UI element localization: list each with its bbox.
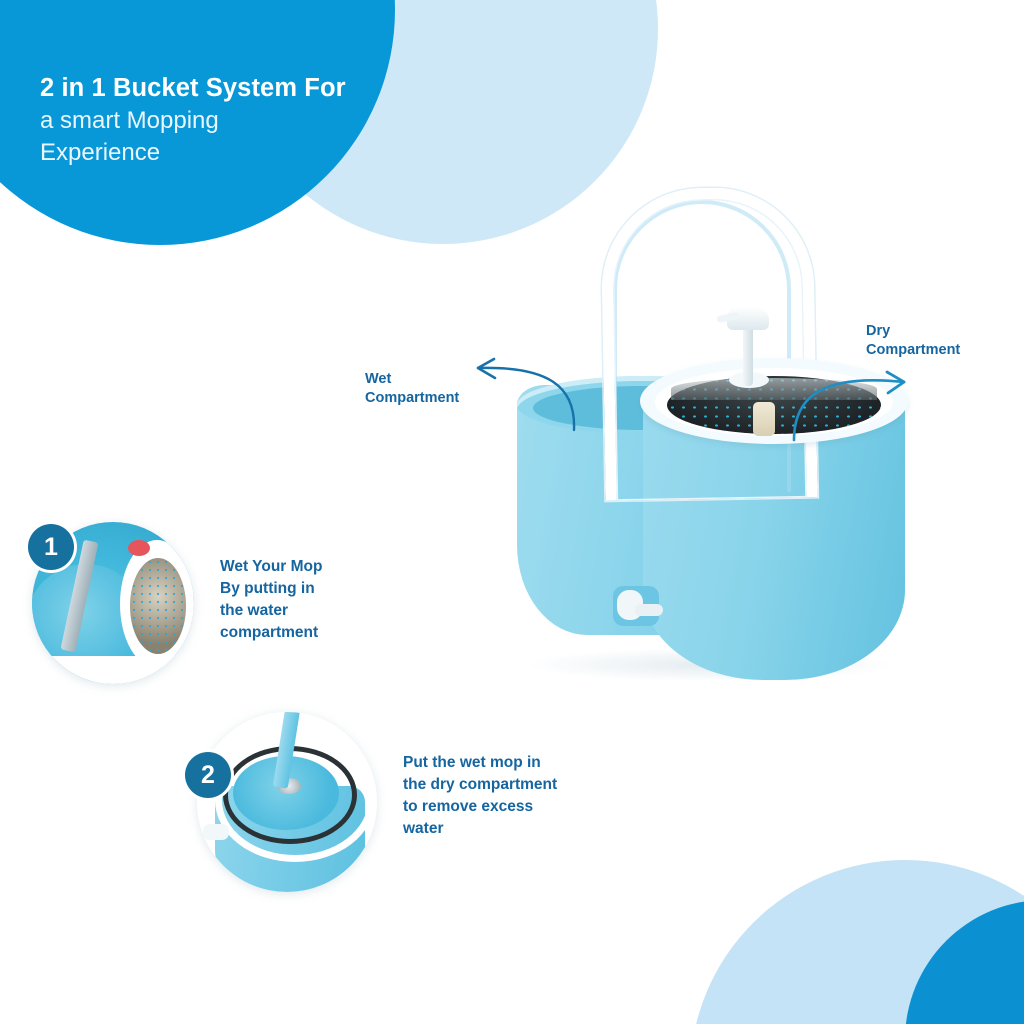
step-1-text: Wet Your Mop By putting in the water com…	[220, 556, 395, 644]
step-2-line-1: Put the wet mop in	[403, 752, 633, 774]
basket-steel-sheen	[671, 378, 877, 400]
drain-valve-lever	[635, 604, 663, 616]
callout-wet-compartment: Wet Compartment	[365, 370, 459, 409]
poster-headline: 2 in 1 Bucket System For a smart Mopping…	[40, 72, 460, 169]
callout-dry-line-2: Compartment	[866, 341, 960, 360]
step-1-base-strip	[32, 656, 194, 684]
step-2-text: Put the wet mop in the dry compartment t…	[403, 752, 633, 840]
step-1-basket-perforations	[130, 558, 186, 654]
callout-wet-line-1: Wet	[365, 370, 459, 389]
headline-line-2: a smart Mopping	[40, 105, 460, 137]
carry-handle	[600, 186, 817, 501]
callout-wet-line-2: Compartment	[365, 389, 459, 408]
bottom-tint-circle-decoration	[690, 860, 1024, 1024]
dispenser-stem	[743, 326, 753, 386]
spin-mop-bucket-image	[495, 180, 925, 700]
step-1-spinner-basket	[130, 558, 186, 654]
callout-dry-compartment: Dry Compartment	[866, 322, 960, 361]
step-1-line-1: Wet Your Mop	[220, 556, 395, 578]
headline-line-1: 2 in 1 Bucket System For	[40, 72, 460, 105]
step-2-line-4: water	[403, 818, 633, 840]
step-1-line-4: compartment	[220, 622, 395, 644]
step-1-line-3: the water	[220, 600, 395, 622]
step-2-line-3: to remove excess	[403, 796, 633, 818]
step-1-red-knob	[128, 540, 150, 556]
step-2-badge: 2	[185, 752, 231, 798]
step-2-thumbnail	[197, 712, 377, 892]
step-1-line-2: By putting in	[220, 578, 395, 600]
callout-dry-line-1: Dry	[866, 322, 960, 341]
basket-spindle	[753, 402, 775, 436]
headline-line-3: Experience	[40, 137, 460, 169]
step-2-line-2: the dry compartment	[403, 774, 633, 796]
product-infographic-poster: 2 in 1 Bucket System For a smart Mopping…	[0, 0, 1024, 1024]
step-2-drain-valve	[203, 824, 229, 840]
step-1-badge: 1	[28, 524, 74, 570]
bottom-blue-circle-decoration	[905, 900, 1024, 1024]
